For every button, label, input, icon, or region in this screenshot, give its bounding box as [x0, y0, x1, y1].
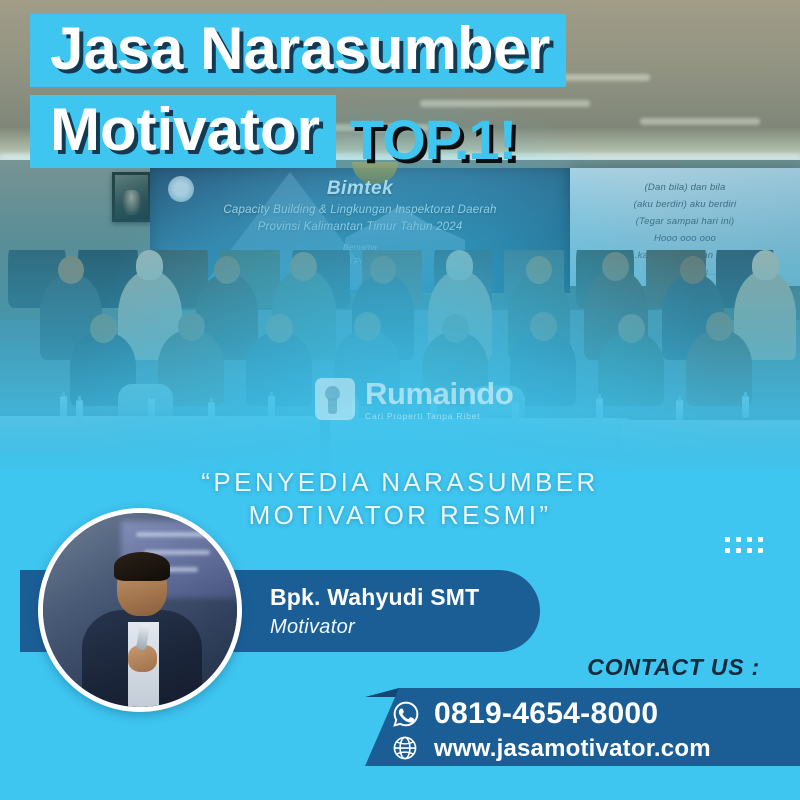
speaker-name: Bpk. Wahyudi SMT — [270, 584, 479, 611]
whatsapp-icon — [392, 700, 420, 728]
website-url[interactable]: www.jasamotivator.com — [434, 735, 711, 763]
watermark-tagline: Cari Properti Tanpa Ribet — [365, 412, 513, 421]
poster-root: Bimtek Capacity Building & Lingkungan In… — [0, 0, 800, 800]
dot-grid-decoration — [725, 537, 763, 553]
house-key-icon — [315, 378, 355, 420]
contact-phone-row[interactable]: 0819-4654-8000 — [392, 697, 658, 731]
avatar — [38, 508, 242, 712]
headline-line-1: Jasa Narasumber — [30, 14, 566, 87]
watermark: Rumaindo Cari Properti Tanpa Ribet — [315, 378, 513, 421]
contact-website-row[interactable]: www.jasamotivator.com — [392, 735, 711, 763]
headline-line-2: Motivator — [30, 95, 336, 168]
watermark-name: Rumaindo — [365, 378, 513, 409]
quote-line-1: “PENYEDIA NARASUMBER — [0, 466, 800, 499]
contact-us-label: CONTACT US : — [0, 654, 760, 681]
headline: Jasa Narasumber Motivator TOP.1! — [0, 14, 800, 172]
phone-number[interactable]: 0819-4654-8000 — [434, 697, 658, 731]
headline-badge: TOP.1! — [350, 107, 516, 172]
speaker-role: Motivator — [270, 616, 355, 639]
globe-icon — [392, 735, 420, 763]
